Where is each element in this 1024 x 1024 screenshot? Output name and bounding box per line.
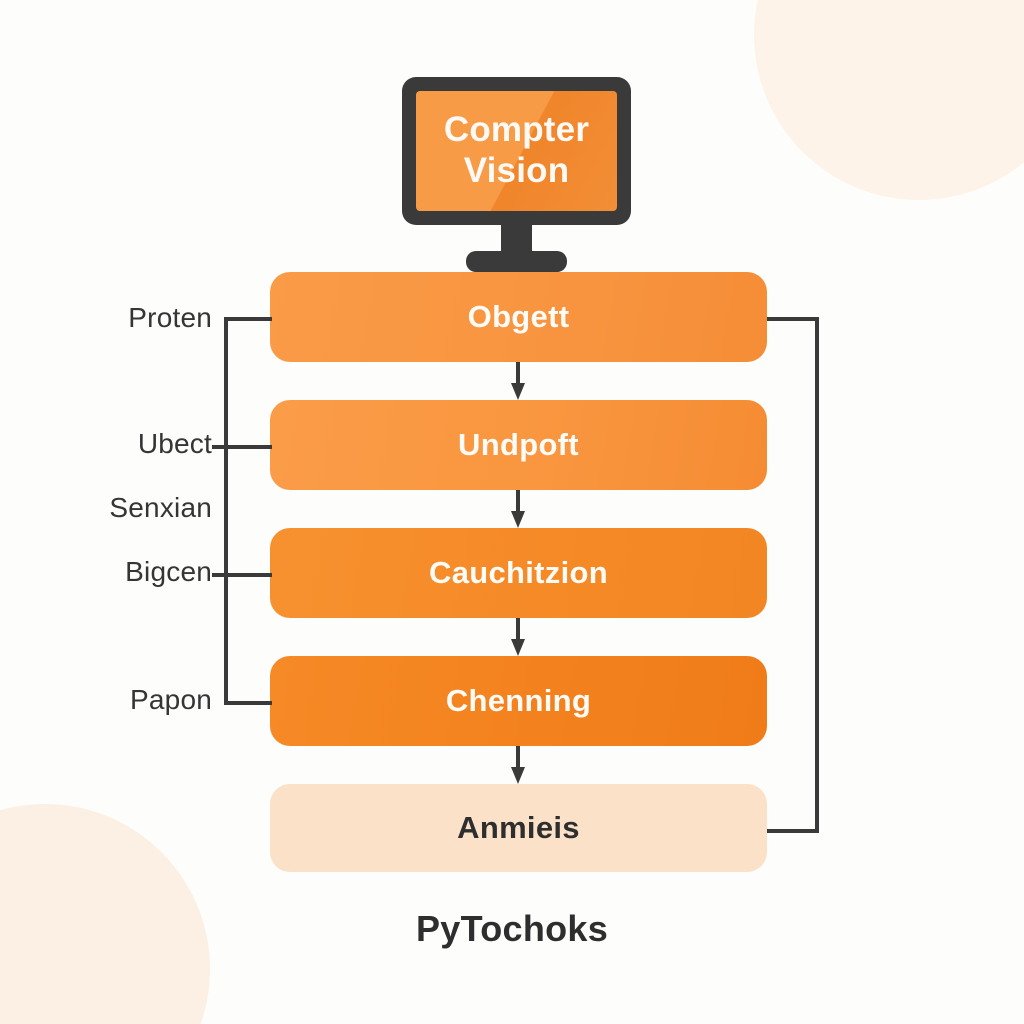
pipeline-stage-label-2: Undpoft: [458, 427, 579, 463]
bracket-tine-top: [224, 317, 272, 321]
pipeline-stage-box-1[interactable]: Obgett: [270, 272, 767, 362]
right-bracket-connector: [767, 317, 819, 833]
monitor-screen: Compter Vision: [416, 91, 617, 211]
side-label-bigcen: Bigcen: [125, 556, 212, 588]
monitor-screen-line-2: Vision: [464, 151, 570, 192]
decorative-blob-top-right: [754, 0, 1024, 200]
pipeline-stage-box-4[interactable]: Chenning: [270, 656, 767, 746]
arrow-head: [511, 511, 525, 528]
pipeline-stage-label-5: Anmieis: [457, 810, 580, 846]
arrow-head: [511, 767, 525, 784]
side-label-group: Proten Ubect Senxian Bigcen Papon: [0, 0, 212, 1024]
bracket-tine-bottom: [224, 701, 272, 705]
monitor-icon: Compter Vision: [402, 77, 631, 225]
arrow-head: [511, 383, 525, 400]
pipeline-stage-box-5[interactable]: Anmieis: [270, 784, 767, 872]
arrow-down-icon-3: [511, 618, 525, 656]
monitor-stand-base: [466, 251, 567, 272]
left-bracket-connector: [224, 317, 272, 705]
diagram-canvas: Compter Vision Obgett Undpoft Cauchitzio…: [0, 0, 1024, 1024]
pipeline-stage-label-4: Chenning: [446, 683, 591, 719]
arrow-down-icon-4: [511, 746, 525, 784]
bracket-tick-1: [212, 445, 272, 449]
bracket-tick-2: [212, 573, 272, 577]
bracket-spine: [224, 317, 228, 705]
pipeline-stage-label-1: Obgett: [468, 299, 570, 335]
bracket-tine-top: [767, 317, 819, 321]
monitor-screen-line-1: Compter: [444, 110, 589, 151]
bracket-tine-bottom: [767, 829, 819, 833]
pipeline-stage-box-2[interactable]: Undpoft: [270, 400, 767, 490]
arrow-down-icon-1: [511, 362, 525, 400]
side-label-proten: Proten: [128, 302, 212, 334]
diagram-caption: PyTochoks: [0, 908, 1024, 950]
arrow-head: [511, 639, 525, 656]
side-label-papon: Papon: [130, 684, 212, 716]
pipeline-stage-box-3[interactable]: Cauchitzion: [270, 528, 767, 618]
bracket-spine: [815, 317, 819, 833]
arrow-down-icon-2: [511, 490, 525, 528]
side-label-senxian: Senxian: [109, 492, 212, 524]
side-label-ubect: Ubect: [138, 428, 212, 460]
pipeline-stage-label-3: Cauchitzion: [429, 555, 608, 591]
